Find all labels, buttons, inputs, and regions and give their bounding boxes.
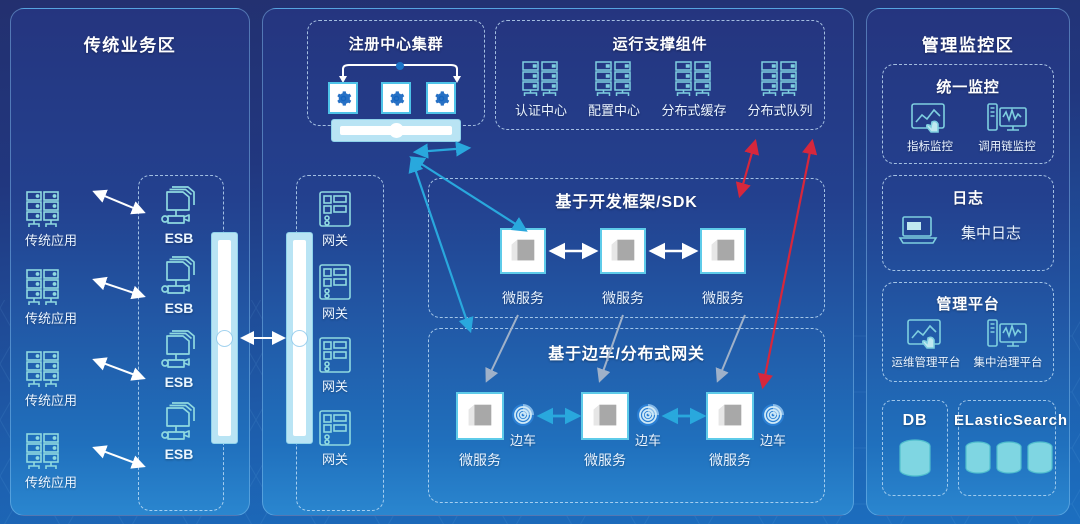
database-icon: [964, 440, 992, 480]
sdk-service-label: 微服务: [690, 288, 756, 308]
server-rack-icon: [583, 60, 645, 98]
database-icon: [897, 438, 933, 482]
db-title: DB: [882, 412, 948, 430]
runtime-item-label: 分布式队列: [737, 100, 823, 119]
registry-fanout-connector: [325, 62, 475, 84]
runtime-item-label: 配置中心: [578, 100, 650, 119]
gateway-label: 网关: [314, 230, 356, 249]
unified-monitoring-title: 统一监控: [882, 76, 1054, 97]
sidecar-label: 边车: [501, 430, 545, 449]
esb-bus-knob[interactable]: [217, 331, 232, 346]
esb-icon: [155, 256, 199, 300]
esb-icon: [155, 186, 199, 230]
server-rack-icon: [749, 60, 811, 98]
gateway-node-2[interactable]: 网关: [318, 263, 366, 323]
management-zone-title: 管理监控区: [867, 31, 1069, 56]
cube-icon: [608, 236, 638, 266]
server-rack-icon: [24, 350, 98, 388]
legacy-app-3[interactable]: 传统应用: [24, 350, 98, 402]
trace-monitor-icon: [986, 102, 1030, 136]
sidecar-service-label: 微服务: [571, 450, 639, 470]
gateway-bus-knob[interactable]: [292, 331, 307, 346]
legacy-app-2[interactable]: 传统应用: [24, 268, 98, 320]
gateway-label: 网关: [314, 376, 356, 395]
gateway-node-1[interactable]: 网关: [318, 190, 366, 250]
governance-platform-icon: [986, 318, 1030, 352]
legacy-app-label: 传统应用: [16, 230, 86, 249]
database-icon: [1026, 440, 1054, 480]
database-icon: [995, 440, 1023, 480]
esb-bus-bar[interactable]: [211, 232, 238, 444]
sidecar-service-2[interactable]: [581, 392, 629, 440]
laptop-log-icon: [898, 214, 940, 248]
ops-platform-label: 运维管理平台: [884, 354, 968, 370]
registry-bus-bar[interactable]: [331, 119, 461, 142]
sdk-service-label: 微服务: [490, 288, 556, 308]
gear-icon: [334, 89, 353, 108]
legacy-app-label: 传统应用: [16, 390, 86, 409]
management-platform-title: 管理平台: [882, 293, 1054, 314]
cube-icon: [590, 401, 620, 431]
gateway-label: 网关: [314, 303, 356, 322]
sidecar-service-label: 微服务: [696, 450, 764, 470]
cube-icon: [708, 236, 738, 266]
gateway-icon: [318, 336, 352, 374]
governance-platform-item[interactable]: 集中治理平台: [966, 318, 1050, 352]
sidecar-service-1[interactable]: [456, 392, 504, 440]
server-rack-icon: [24, 268, 98, 306]
sidecar-label: 边车: [626, 430, 670, 449]
legacy-app-label: 传统应用: [16, 308, 86, 327]
runtime-item-auth[interactable]: 认证中心: [505, 60, 577, 98]
legacy-zone-title: 传统业务区: [11, 31, 249, 56]
server-rack-icon: [510, 60, 572, 98]
esb-node-4[interactable]: ESB: [155, 402, 207, 468]
runtime-item-config[interactable]: 配置中心: [578, 60, 650, 98]
trace-monitor-label: 调用链监控: [966, 138, 1048, 154]
runtime-components-title: 运行支撑组件: [495, 33, 825, 54]
esb-label: ESB: [153, 300, 205, 316]
server-rack-icon: [24, 432, 98, 470]
metrics-monitor-icon: [910, 102, 950, 136]
runtime-item-cache[interactable]: 分布式缓存: [651, 60, 737, 98]
sdk-service-2[interactable]: [600, 228, 646, 274]
gateway-node-4[interactable]: 网关: [318, 409, 366, 469]
gear-icon: [432, 89, 451, 108]
registry-node-3[interactable]: [426, 82, 456, 114]
esb-node-3[interactable]: ESB: [155, 330, 207, 396]
trace-monitor-item[interactable]: 调用链监控: [966, 102, 1048, 136]
esb-label: ESB: [153, 230, 205, 246]
server-rack-icon: [24, 190, 98, 228]
gateway-icon: [318, 409, 352, 447]
sidecar-service-label: 微服务: [446, 450, 514, 470]
ops-platform-icon: [906, 318, 946, 352]
sdk-service-label: 微服务: [590, 288, 656, 308]
cube-icon: [715, 401, 745, 431]
sidecar-spiral-icon: [511, 403, 535, 427]
gateway-bus-bar[interactable]: [286, 232, 313, 444]
esb-node-2[interactable]: ESB: [155, 256, 207, 322]
elasticsearch-title: ELasticSearch: [954, 412, 1060, 429]
legacy-app-label: 传统应用: [16, 472, 86, 491]
esb-label: ESB: [153, 374, 205, 390]
gateway-icon: [318, 190, 352, 228]
cube-icon: [508, 236, 538, 266]
sidecar-zone-title: 基于边车/分布式网关: [428, 340, 825, 364]
central-log-label: 集中日志: [946, 222, 1036, 243]
legacy-app-4[interactable]: 传统应用: [24, 432, 98, 484]
gateway-icon: [318, 263, 352, 301]
gear-icon: [387, 89, 406, 108]
sdk-zone-title: 基于开发框架/SDK: [428, 188, 825, 212]
registry-cluster-title: 注册中心集群: [307, 33, 485, 54]
ops-platform-item[interactable]: 运维管理平台: [884, 318, 968, 352]
esb-icon: [155, 402, 199, 446]
sdk-service-3[interactable]: [700, 228, 746, 274]
runtime-item-label: 分布式缓存: [651, 100, 737, 119]
governance-platform-label: 集中治理平台: [966, 354, 1050, 370]
legacy-app-1[interactable]: 传统应用: [24, 190, 98, 242]
sidecar-label: 边车: [751, 430, 795, 449]
registry-bus-knob[interactable]: [389, 123, 404, 138]
gateway-node-3[interactable]: 网关: [318, 336, 366, 396]
metrics-monitor-item[interactable]: 指标监控: [892, 102, 968, 136]
registry-node-1[interactable]: [328, 82, 358, 114]
sidecar-spiral-icon: [636, 403, 660, 427]
sidecar-service-3[interactable]: [706, 392, 754, 440]
esb-icon: [155, 330, 199, 374]
central-log-item[interactable]: 集中日志: [898, 212, 1048, 256]
gateway-label: 网关: [314, 449, 356, 468]
log-group-title: 日志: [882, 187, 1054, 208]
cube-icon: [465, 401, 495, 431]
registry-node-2[interactable]: [381, 82, 411, 114]
esb-node-1[interactable]: ESB: [155, 186, 207, 252]
sdk-service-1[interactable]: [500, 228, 546, 274]
metrics-monitor-label: 指标监控: [892, 138, 968, 154]
sidecar-spiral-icon: [761, 403, 785, 427]
server-rack-icon: [663, 60, 725, 98]
runtime-item-label: 认证中心: [505, 100, 577, 119]
esb-label: ESB: [153, 446, 205, 462]
runtime-item-queue[interactable]: 分布式队列: [737, 60, 823, 98]
